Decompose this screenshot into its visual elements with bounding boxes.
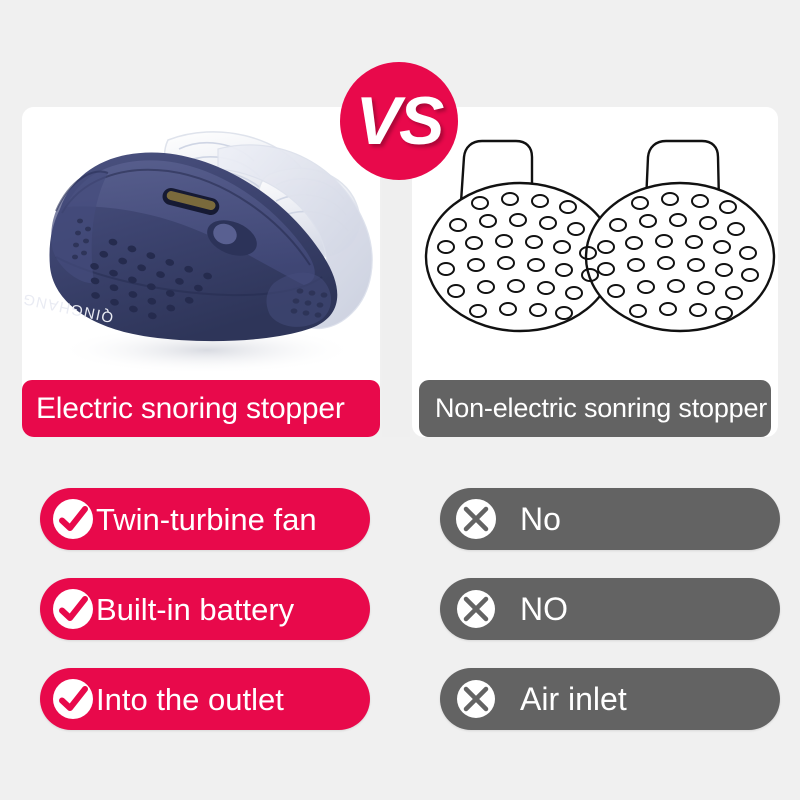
feature-pro-pill: Built-in battery	[40, 578, 370, 640]
caption-non-electric-text: Non-electric sonring stopper	[435, 393, 767, 424]
caption-electric-text: Electric snoring stopper	[36, 392, 345, 426]
caption-electric: Electric snoring stopper	[22, 380, 380, 437]
feature-con-label: Air inlet	[520, 683, 627, 715]
feature-con-label: No	[520, 503, 561, 535]
cross-circle-icon	[454, 677, 498, 721]
product-panel-electric: QINGHANG Electric snoring stopper	[22, 107, 380, 437]
feature-con-pill: No	[440, 488, 780, 550]
feature-pro-label: Built-in battery	[96, 594, 294, 625]
electric-anti-snoring-device-photo: QINGHANG	[22, 107, 380, 380]
caption-non-electric: Non-electric sonring stopper	[419, 380, 771, 437]
feature-pro-pill: Into the outlet	[40, 668, 370, 730]
product-photo-container: QINGHANG	[22, 107, 380, 380]
bottom-spacer	[0, 752, 800, 800]
cross-circle-icon	[454, 587, 498, 631]
check-circle-icon	[51, 587, 95, 631]
feature-comparison-list: Twin-turbine fan No Built-in battery	[0, 482, 800, 752]
non-electric-nasal-dilator-line-drawing	[412, 107, 778, 380]
vs-badge-label: VS	[356, 87, 443, 155]
check-circle-icon	[51, 497, 95, 541]
feature-con-pill: Air inlet	[440, 668, 780, 730]
feature-pro-pill: Twin-turbine fan	[40, 488, 370, 550]
comparison-infographic: QINGHANG Electric snoring stopper	[0, 0, 800, 800]
feature-row: Built-in battery NO	[0, 572, 800, 662]
cross-circle-icon	[454, 497, 498, 541]
vs-badge: VS	[340, 62, 458, 180]
feature-pro-label: Twin-turbine fan	[96, 504, 317, 535]
feature-con-pill: NO	[440, 578, 780, 640]
feature-row: Twin-turbine fan No	[0, 482, 800, 572]
line-drawing-container	[412, 107, 778, 380]
feature-pro-label: Into the outlet	[96, 684, 284, 715]
product-panel-non-electric: Non-electric sonring stopper	[412, 107, 778, 437]
check-circle-icon	[51, 677, 95, 721]
feature-con-label: NO	[520, 593, 568, 625]
feature-row: Into the outlet Air inlet	[0, 662, 800, 752]
